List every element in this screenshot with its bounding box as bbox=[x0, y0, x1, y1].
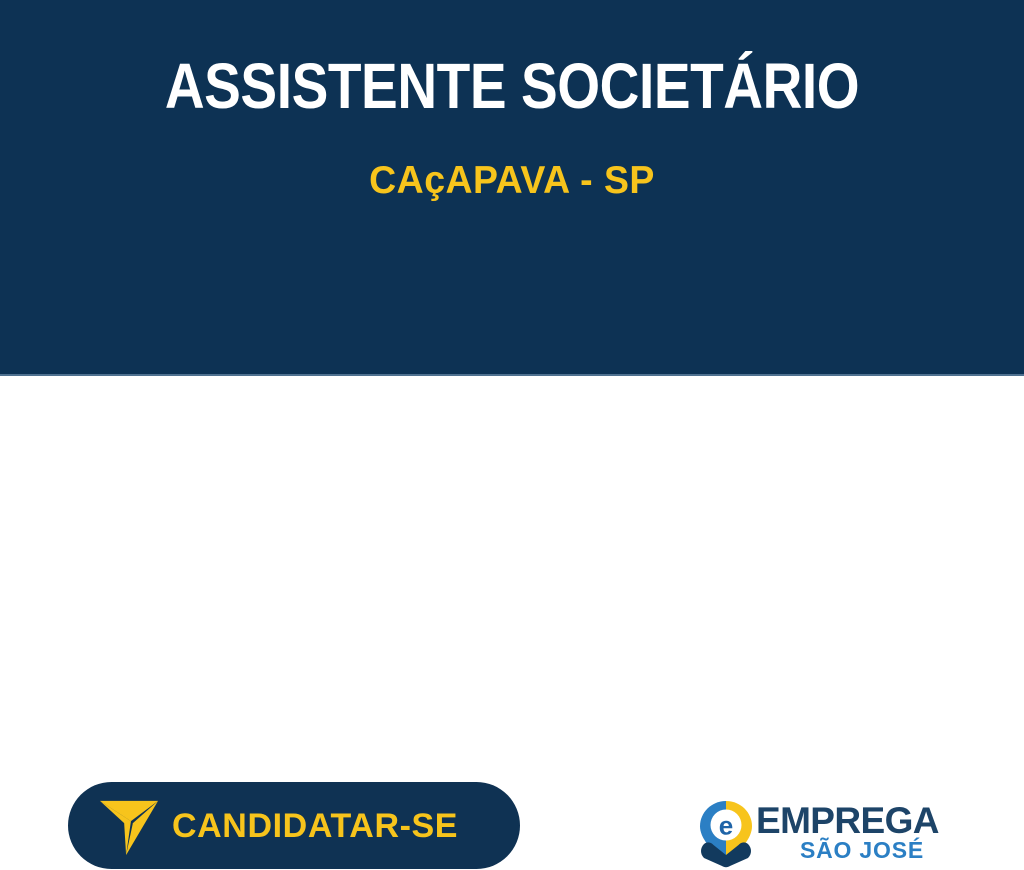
apply-button[interactable]: CANDIDATAR-SE bbox=[68, 782, 520, 869]
brand-logo[interactable]: e EMPREGA SÃO JOSÉ bbox=[698, 798, 903, 870]
page-title: ASSISTENTE SOCIETÁRIO bbox=[72, 53, 953, 120]
footer-bar: CANDIDATAR-SE e EMPREGA SÃO JOSÉ bbox=[0, 376, 1024, 538]
apply-button-label: CANDIDATAR-SE bbox=[172, 809, 458, 843]
brand-name: EMPREGA bbox=[756, 802, 939, 839]
job-location-label: CAçAPAVA - SP bbox=[20, 160, 1003, 203]
paper-plane-icon bbox=[98, 795, 160, 857]
svg-text:e: e bbox=[719, 811, 733, 841]
brand-subtitle: SÃO JOSÉ bbox=[800, 839, 924, 862]
map-pin-e-icon: e bbox=[698, 800, 754, 868]
job-posting-card: ASSISTENTE SOCIETÁRIO CAçAPAVA - SP CAND… bbox=[0, 0, 1024, 538]
hero-banner: ASSISTENTE SOCIETÁRIO CAçAPAVA - SP bbox=[0, 0, 1024, 374]
